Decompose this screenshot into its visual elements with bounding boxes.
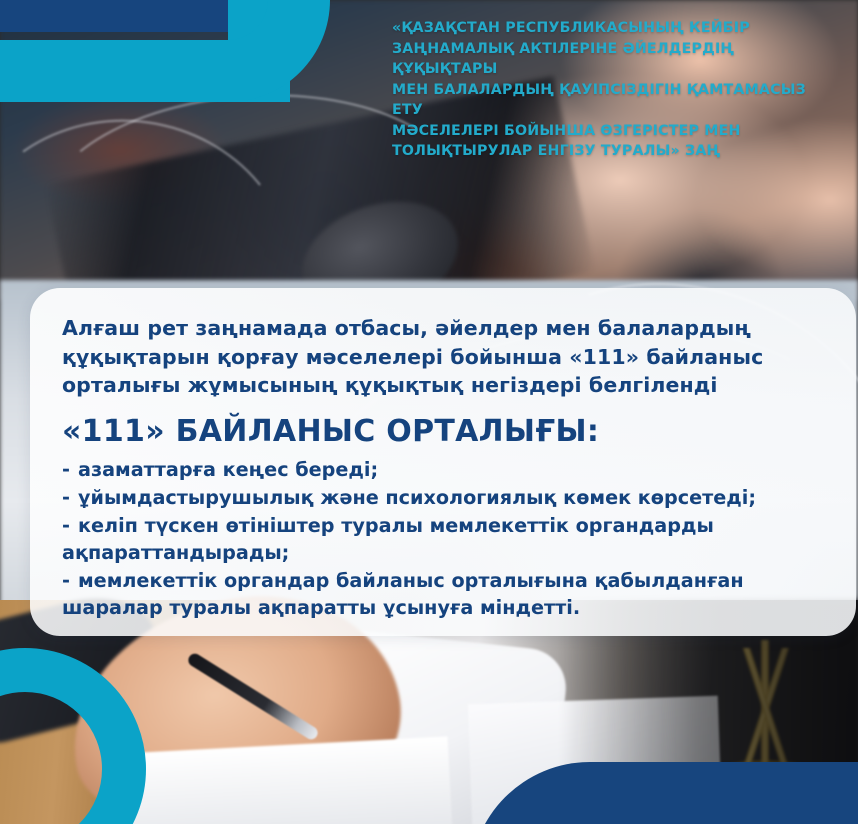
infographic-poster: «ҚАЗАҚСТАН РЕСПУБЛИКАСЫНЫҢ КЕЙБІР ЗАҢНАМ… bbox=[0, 0, 858, 824]
content-card: Алғаш рет заңнамада отбасы, әйелдер мен … bbox=[30, 288, 856, 636]
header-line: МӘСЕЛЕЛЕРІ БОЙЫНША ӨЗГЕРІСТЕР МЕН bbox=[392, 121, 832, 142]
bullet-dash: - bbox=[62, 456, 78, 483]
list-item: -келіп түскен өтініштер туралы мемлекетт… bbox=[62, 512, 826, 566]
header-line: ЗАҢНАМАЛЫҚ АКТІЛЕРІНЕ ӘЙЕЛДЕРДІҢ ҚҰҚЫҚТА… bbox=[392, 39, 832, 80]
header-line: «ҚАЗАҚСТАН РЕСПУБЛИКАСЫНЫҢ КЕЙБІР bbox=[392, 18, 832, 39]
bullet-dash: - bbox=[62, 484, 78, 511]
card-title: «111» БАЙЛАНЫС ОРТАЛЫҒЫ: bbox=[62, 412, 826, 452]
list-item: -мемлекеттік органдар байланыс орталығын… bbox=[62, 567, 826, 621]
list-item: -ұйымдастырушылық және психологиялық көм… bbox=[62, 484, 826, 511]
list-item-text: ұйымдастырушылық және психологиялық көме… bbox=[78, 486, 756, 509]
poster-header-title: «ҚАЗАҚСТАН РЕСПУБЛИКАСЫНЫҢ КЕЙБІР ЗАҢНАМ… bbox=[392, 18, 832, 162]
card-lead-paragraph: Алғаш рет заңнамада отбасы, әйелдер мен … bbox=[62, 314, 826, 400]
card-bullet-list: -азаматтарға кеңес береді; -ұйымдастыруш… bbox=[62, 456, 826, 621]
bullet-dash: - bbox=[62, 567, 78, 594]
list-item: -азаматтарға кеңес береді; bbox=[62, 456, 826, 483]
list-item-text: келіп түскен өтініштер туралы мемлекетті… bbox=[62, 514, 714, 564]
list-item-text: мемлекеттік органдар байланыс орталығына… bbox=[62, 569, 744, 619]
header-line: ТОЛЫҚТЫРУЛАР ЕНГІЗУ ТУРАЛЫ» ЗАҢ bbox=[392, 141, 832, 162]
list-item-text: азаматтарға кеңес береді; bbox=[78, 458, 378, 481]
teal-hook-shape bbox=[0, 0, 330, 110]
bullet-dash: - bbox=[62, 512, 78, 539]
teal-hook-corner bbox=[228, 0, 330, 102]
header-line: МЕН БАЛАЛАРДЫҢ ҚАУІПСІЗДІГІН ҚАМТАМАСЫЗ … bbox=[392, 80, 832, 121]
